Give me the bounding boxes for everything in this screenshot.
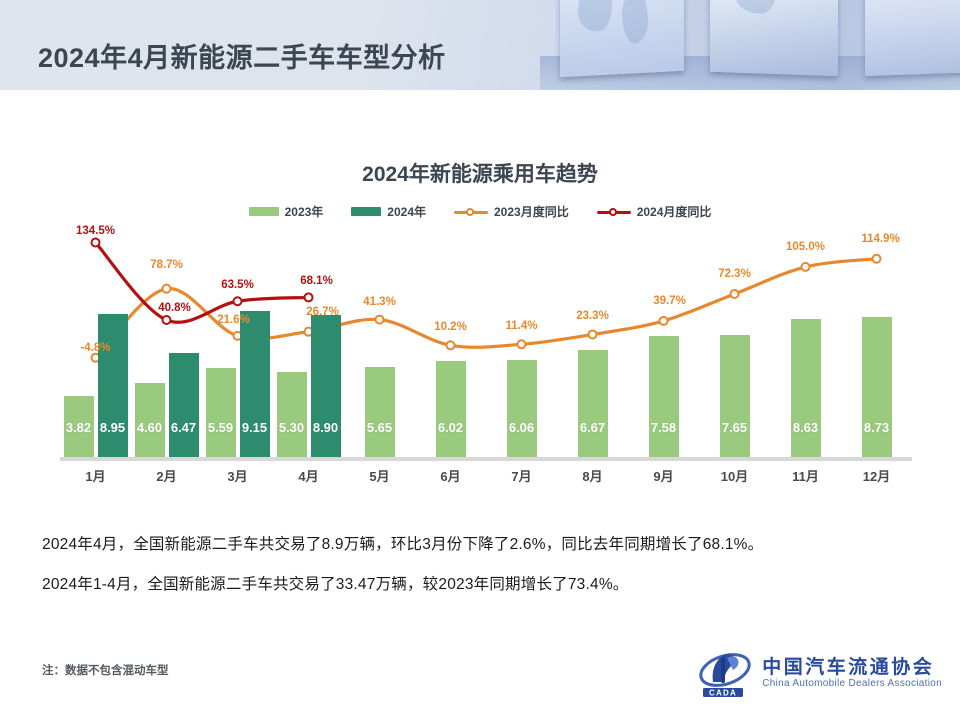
- x-axis-line: [60, 457, 912, 461]
- bar-2023-3月: 5.59: [206, 368, 236, 457]
- summary-paragraph-2: 2024年1-4月，全国新能源二手车共交易了33.47万辆，较2023年同期增长…: [42, 572, 629, 594]
- line-2023-value-label: -4.8%: [80, 342, 110, 354]
- bar-value-label: 7.65: [722, 420, 747, 435]
- legend-swatch-2024-bar: [351, 207, 381, 216]
- bar-value-label: 6.06: [509, 420, 534, 435]
- cada-emblem-icon: CADA: [697, 648, 753, 700]
- x-axis-label-2月: 2月: [156, 466, 176, 485]
- line-2023-value-label: 21.6%: [217, 314, 250, 326]
- line-2023-value-label: 105.0%: [786, 241, 825, 253]
- line-2023-value-label: 11.4%: [506, 320, 538, 332]
- line-2023-value-label: 114.9%: [861, 233, 899, 245]
- cube-map-shape: [578, 0, 612, 32]
- page-title: 2024年4月新能源二手车车型分析: [38, 36, 446, 75]
- organization-logo: CADA 中国汽车流通协会 China Automobile Dealers A…: [697, 648, 942, 700]
- line-2023-marker: [447, 341, 455, 349]
- line-2024-marker: [305, 293, 313, 301]
- line-2023-marker: [518, 340, 526, 348]
- line-2023-marker: [660, 317, 668, 325]
- bar-value-label: 5.65: [367, 420, 392, 435]
- line-2024-marker: [234, 297, 242, 305]
- bar-value-label: 9.15: [242, 420, 267, 435]
- cada-mark-text: CADA: [709, 688, 737, 697]
- legend-swatch-2024-line: [597, 207, 631, 217]
- bar-value-label: 7.58: [651, 420, 676, 435]
- line-2023-value-label: 23.3%: [576, 310, 609, 322]
- legend-label-2024-bar: 2024年: [387, 203, 426, 220]
- bar-value-label: 5.59: [208, 420, 233, 435]
- legend-swatch-2023-line: [454, 207, 488, 217]
- x-axis-label-6月: 6月: [440, 466, 460, 485]
- bar-2024-2月: 6.47: [169, 353, 199, 457]
- bar-value-label: 3.82: [66, 420, 91, 435]
- legend-swatch-2023-bar: [249, 207, 279, 216]
- bar-2023-12月: 8.73: [862, 317, 892, 457]
- bar-2023-4月: 5.30: [277, 372, 307, 457]
- logo-text-block: 中国汽车流通协会 China Automobile Dealers Associ…: [762, 658, 942, 689]
- x-axis-label-9月: 9月: [653, 466, 673, 485]
- bar-value-label: 6.67: [580, 420, 605, 435]
- x-axis-label-11月: 11月: [792, 466, 819, 485]
- x-axis-label-8月: 8月: [582, 466, 602, 485]
- bar-2023-9月: 7.58: [649, 336, 679, 457]
- legend-item-2023-bar[interactable]: 2023年: [249, 203, 324, 220]
- bar-value-label: 8.95: [100, 420, 125, 435]
- cube-map-shape: [622, 0, 648, 44]
- line-2024-value-label: 63.5%: [221, 279, 254, 291]
- decorative-cube-3: [865, 0, 960, 76]
- bar-2023-10月: 7.65: [720, 335, 750, 457]
- bar-2023-6月: 6.02: [436, 361, 466, 457]
- bar-2023-1月: 3.82: [64, 396, 94, 457]
- x-axis-label-10月: 10月: [721, 466, 748, 485]
- x-axis-label-4月: 4月: [298, 466, 318, 485]
- line-2023-value-label: 39.7%: [653, 295, 686, 307]
- decorative-cube-1: [560, 0, 684, 77]
- bar-2023-5月: 5.65: [365, 367, 395, 457]
- line-2023-value-label: 78.7%: [150, 259, 183, 271]
- x-axis-label-3月: 3月: [227, 466, 247, 485]
- bar-value-label: 8.63: [793, 420, 818, 435]
- line-2024-value-label: 40.8%: [158, 302, 191, 314]
- line-2023-value-label: 26.7%: [306, 306, 339, 318]
- legend-item-2023-line[interactable]: 2023月度同比: [454, 203, 569, 220]
- bar-2024-3月: 9.15: [240, 311, 270, 457]
- decorative-cube-2: [710, 0, 838, 76]
- legend-label-2023-line: 2023月度同比: [494, 203, 569, 220]
- cube-map-shape: [736, 0, 776, 14]
- line-2023-marker: [731, 290, 739, 298]
- line-2023-value-label: 72.3%: [718, 268, 751, 280]
- bar-value-label: 6.47: [171, 420, 196, 435]
- line-2024-path: [96, 243, 309, 323]
- bar-2023-7月: 6.06: [507, 360, 537, 457]
- chart-legend: 2023年 2024年 2023月度同比 2024月度同比: [0, 203, 960, 220]
- legend-item-2024-bar[interactable]: 2024年: [351, 203, 426, 220]
- bar-2024-4月: 8.90: [311, 315, 341, 457]
- line-2024-value-label: 134.5%: [76, 225, 115, 237]
- bar-value-label: 4.60: [137, 420, 162, 435]
- legend-label-2024-line: 2024月度同比: [637, 203, 712, 220]
- bar-value-label: 5.30: [279, 420, 304, 435]
- bar-2024-1月: 8.95: [98, 314, 128, 457]
- x-axis-label-5月: 5月: [369, 466, 389, 485]
- legend-item-2024-line[interactable]: 2024月度同比: [597, 203, 712, 220]
- line-2023-value-label: 10.2%: [434, 321, 467, 333]
- bar-value-label: 8.73: [864, 420, 889, 435]
- bar-value-label: 6.02: [438, 420, 463, 435]
- footnote: 注：数据不包含混动车型: [42, 662, 169, 678]
- line-2023-marker: [589, 330, 597, 338]
- bar-2023-11月: 8.63: [791, 319, 821, 457]
- chart-title: 2024年新能源乘用车趋势: [0, 158, 960, 188]
- bar-2023-8月: 6.67: [578, 350, 608, 457]
- line-2024-value-label: 68.1%: [300, 275, 333, 287]
- x-axis-label-1月: 1月: [85, 466, 105, 485]
- line-2023-value-label: 41.3%: [363, 296, 396, 308]
- line-2024-marker: [92, 239, 100, 247]
- header-decoration-image: [540, 0, 960, 90]
- line-2023-marker: [163, 285, 171, 293]
- line-2023-marker: [802, 263, 810, 271]
- x-axis-labels: 1月2月3月4月5月6月7月8月9月10月11月12月: [60, 466, 912, 490]
- logo-name-cn: 中国汽车流通协会: [762, 658, 942, 678]
- logo-name-en: China Automobile Dealers Association: [762, 679, 942, 690]
- line-2024-marker: [163, 316, 171, 324]
- x-axis-label-7月: 7月: [511, 466, 531, 485]
- line-2023-path: [96, 259, 877, 358]
- line-2023-marker: [873, 255, 881, 263]
- legend-label-2023-bar: 2023年: [285, 203, 324, 220]
- bar-2023-2月: 4.60: [135, 383, 165, 457]
- page-header: 2024年4月新能源二手车车型分析: [0, 0, 960, 90]
- summary-paragraph-1: 2024年4月，全国新能源二手车共交易了8.9万辆，环比3月份下降了2.6%，同…: [42, 532, 763, 554]
- line-2023-marker: [376, 316, 384, 324]
- x-axis-label-12月: 12月: [863, 466, 890, 485]
- chart-plot-area: 3.828.954.606.475.599.155.308.905.656.02…: [60, 230, 920, 462]
- bar-value-label: 8.90: [313, 420, 338, 435]
